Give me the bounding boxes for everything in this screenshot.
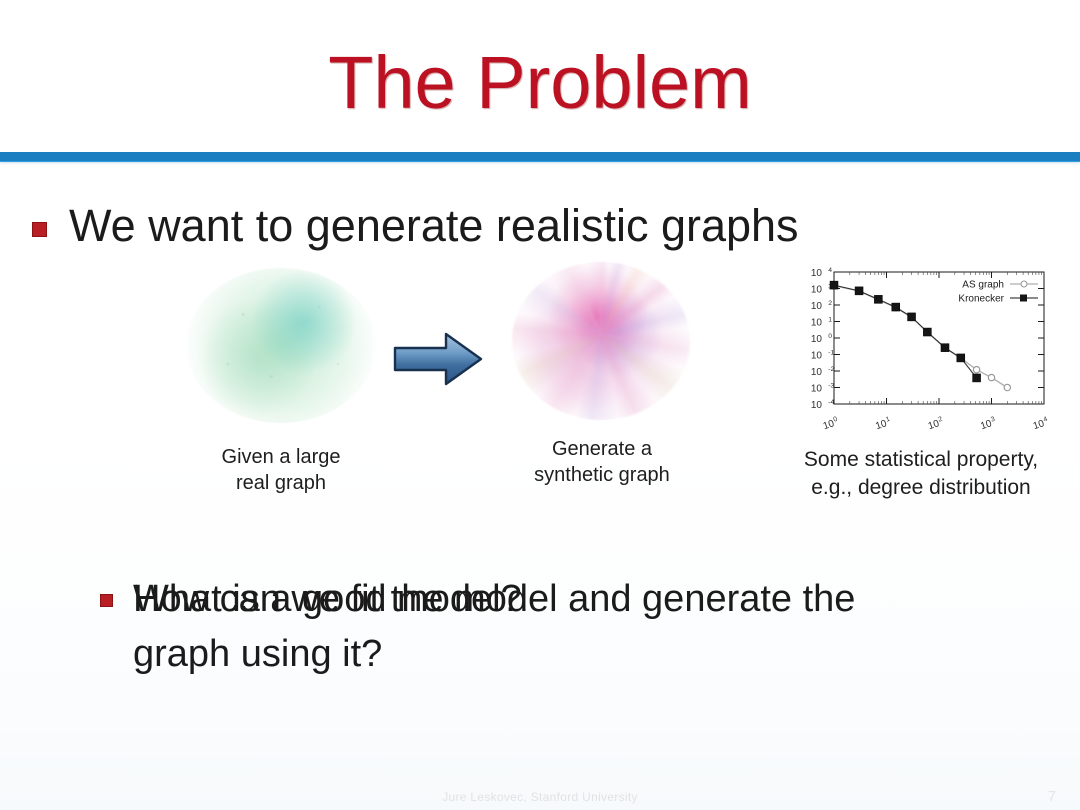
svg-text:10: 10 bbox=[811, 334, 823, 345]
sub-bullet-item-2: How can we fit the model and generate th… bbox=[100, 572, 920, 682]
svg-text:10: 10 bbox=[811, 351, 823, 362]
slide-canvas: The Problem We want to generate realisti… bbox=[0, 0, 1080, 810]
bullet-square-icon bbox=[32, 222, 47, 237]
svg-text:AS graph: AS graph bbox=[962, 280, 1004, 291]
caption-line: Generate a bbox=[490, 436, 714, 462]
svg-text:10: 10 bbox=[811, 384, 823, 395]
main-bullet-item: We want to generate realistic graphs bbox=[32, 196, 799, 256]
svg-text:4: 4 bbox=[828, 267, 832, 274]
slide-title-area: The Problem bbox=[0, 28, 1080, 148]
page-number: 7 bbox=[1048, 788, 1056, 805]
transform-arrow bbox=[392, 330, 484, 388]
svg-text:10: 10 bbox=[811, 400, 823, 411]
caption-line: Some statistical property, bbox=[768, 446, 1074, 474]
svg-text:10: 10 bbox=[811, 318, 823, 329]
main-bullet-label: We want to generate realistic graphs bbox=[69, 196, 799, 256]
svg-text:4: 4 bbox=[1043, 416, 1049, 424]
svg-text:10: 10 bbox=[811, 301, 823, 312]
caption-line: real graph bbox=[160, 470, 402, 496]
page-title: The Problem bbox=[328, 41, 752, 124]
svg-text:Kronecker: Kronecker bbox=[958, 294, 1004, 305]
bullet-square-icon bbox=[100, 594, 113, 607]
real-graph-hairball-icon bbox=[186, 268, 376, 423]
degree-distribution-chart: 10410310210110010-110-210-310-4100101102… bbox=[786, 258, 1058, 438]
sub-bullet-label: How can we fit the model and generate th… bbox=[133, 572, 920, 682]
svg-text:-4: -4 bbox=[828, 399, 834, 406]
right-arrow-icon bbox=[392, 330, 484, 388]
svg-text:0: 0 bbox=[828, 333, 832, 340]
synthetic-graph-figure bbox=[506, 258, 696, 426]
svg-text:0: 0 bbox=[833, 416, 839, 424]
svg-text:-2: -2 bbox=[828, 366, 834, 373]
svg-text:10: 10 bbox=[811, 367, 823, 378]
caption-statistical-property: Some statistical property, e.g., degree … bbox=[768, 446, 1074, 502]
caption-line: Given a large bbox=[160, 444, 402, 470]
caption-line: synthetic graph bbox=[490, 462, 714, 488]
svg-text:-3: -3 bbox=[828, 382, 834, 389]
caption-line: e.g., degree distribution bbox=[768, 474, 1074, 502]
svg-text:10: 10 bbox=[811, 285, 823, 296]
title-divider bbox=[0, 152, 1080, 161]
svg-text:3: 3 bbox=[990, 416, 996, 424]
chart-canvas: 10410310210110010-110-210-310-4100101102… bbox=[786, 258, 1058, 438]
synthetic-graph-hairball-icon bbox=[512, 262, 690, 420]
svg-text:1: 1 bbox=[885, 416, 891, 424]
svg-text:-1: -1 bbox=[828, 349, 834, 356]
footer-credit: Jure Leskovec, Stanford University bbox=[0, 790, 1080, 804]
svg-text:2: 2 bbox=[828, 300, 832, 307]
real-graph-figure bbox=[178, 262, 384, 430]
svg-text:1: 1 bbox=[828, 316, 832, 323]
svg-text:2: 2 bbox=[938, 416, 944, 424]
caption-synthetic-graph: Generate a synthetic graph bbox=[490, 436, 714, 488]
caption-real-graph: Given a large real graph bbox=[160, 444, 402, 496]
svg-text:10: 10 bbox=[811, 268, 823, 279]
